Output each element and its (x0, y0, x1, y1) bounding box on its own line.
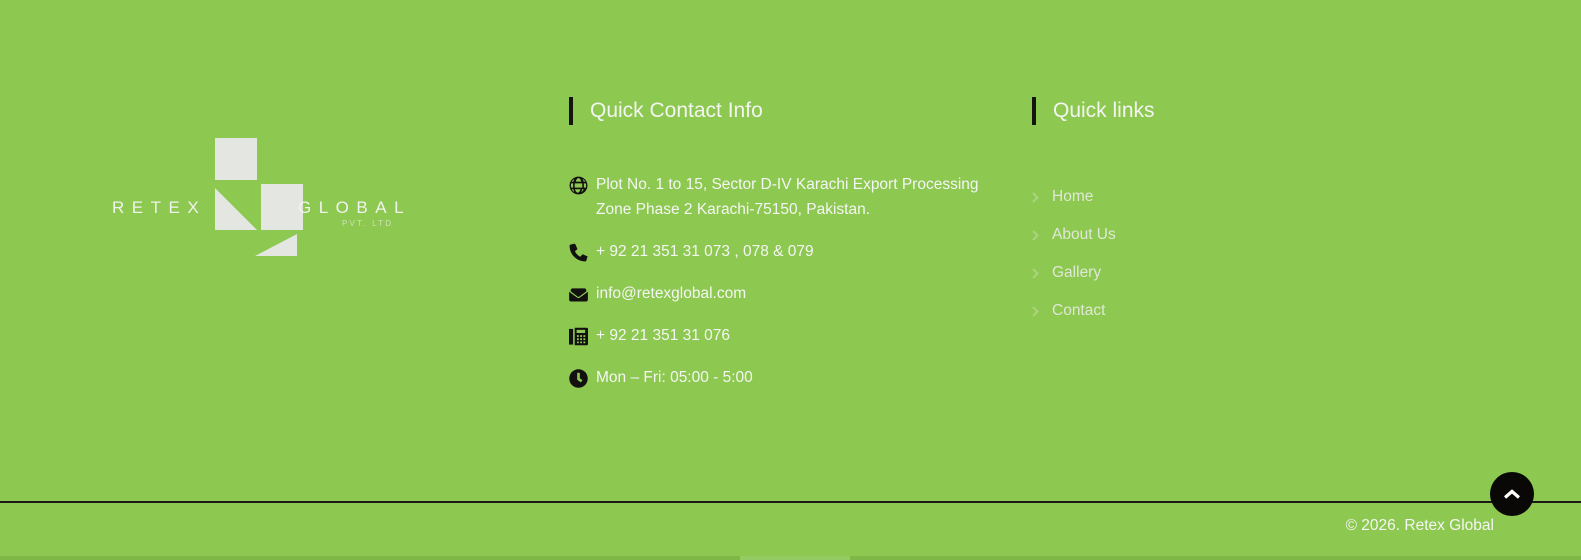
quick-links-heading-label: Quick links (1053, 99, 1155, 123)
logo-word-retex: RETEX (112, 198, 206, 218)
footer-bottom-bar: © 2026. Retex Global (0, 503, 1581, 553)
page-bottom-strip (0, 556, 1581, 560)
fax-icon (569, 325, 596, 347)
heading-accent-bar (1032, 97, 1036, 125)
contact-row-fax: + 92 21 351 31 076 (569, 323, 999, 348)
contact-row-email[interactable]: info@retexglobal.com (569, 281, 999, 306)
contact-text-email: info@retexglobal.com (596, 281, 746, 306)
page-bottom-strip-highlight (740, 556, 850, 560)
retex-global-geometric-mark-icon (205, 138, 305, 256)
globe-icon (569, 174, 596, 196)
chevron-right-icon (1032, 306, 1052, 317)
contact-info-list: Plot No. 1 to 15, Sector D-IV Karachi Ex… (569, 172, 999, 407)
quick-contact-info-heading-label: Quick Contact Info (590, 99, 763, 123)
quick-link-label: About Us (1052, 226, 1116, 244)
quick-link-contact[interactable]: Contact (1032, 292, 1332, 330)
clock-icon (569, 367, 596, 389)
contact-text-hours: Mon – Fri: 05:00 - 5:00 (596, 365, 753, 390)
contact-row-phone[interactable]: + 92 21 351 31 073 , 078 & 079 (569, 239, 999, 264)
phone-icon (569, 241, 596, 263)
scroll-to-top-button[interactable] (1490, 472, 1534, 516)
contact-text-phone: + 92 21 351 31 073 , 078 & 079 (596, 239, 814, 264)
quick-link-label: Contact (1052, 302, 1105, 320)
envelope-icon (569, 283, 596, 305)
chevron-right-icon (1032, 268, 1052, 279)
copyright-text: © 2026. Retex Global (1346, 517, 1494, 535)
chevron-up-icon (1503, 488, 1521, 500)
contact-row-address: Plot No. 1 to 15, Sector D-IV Karachi Ex… (569, 172, 999, 222)
logo-word-global: GLOBAL (298, 198, 411, 218)
contact-text-address: Plot No. 1 to 15, Sector D-IV Karachi Ex… (596, 172, 981, 222)
quick-link-label: Gallery (1052, 264, 1101, 282)
quick-links-heading: Quick links (1032, 96, 1155, 126)
contact-text-fax: + 92 21 351 31 076 (596, 323, 730, 348)
heading-accent-bar (569, 97, 573, 125)
quick-link-gallery[interactable]: Gallery (1032, 254, 1332, 292)
chevron-right-icon (1032, 230, 1052, 241)
chevron-right-icon (1032, 192, 1052, 203)
logo-subtitle: PVT. LTD (342, 219, 393, 228)
footer-logo[interactable]: RETEX GLOBAL PVT. LTD (112, 138, 402, 258)
quick-link-about-us[interactable]: About Us (1032, 216, 1332, 254)
quick-link-label: Home (1052, 188, 1093, 206)
quick-contact-info-heading: Quick Contact Info (569, 96, 763, 126)
quick-links-list: Home About Us Gallery (1032, 178, 1332, 330)
site-footer: RETEX GLOBAL PVT. LTD Quick Contact Info… (0, 0, 1581, 502)
quick-link-home[interactable]: Home (1032, 178, 1332, 216)
contact-row-hours: Mon – Fri: 05:00 - 5:00 (569, 365, 999, 390)
